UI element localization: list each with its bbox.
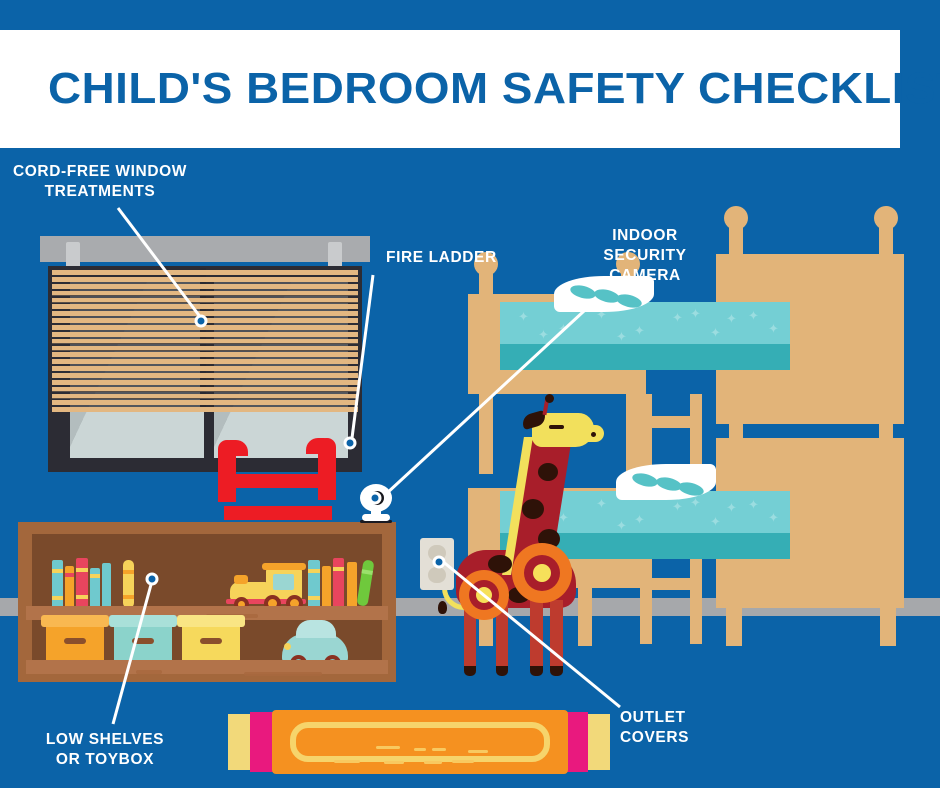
wall-outlet [420,538,454,590]
giraffe-pull-toy [446,395,606,680]
rug-inner-outline [290,722,550,762]
callout-label-low-shelves-or-toybox: LOW SHELVES OR TOYBOX [20,730,190,770]
bedpost [879,224,893,254]
camera-head [360,484,392,512]
infographic-poster: ✦✦✦✦✦✦✦✦✦✦✦✦ ✦✦✦✦✦✦✦✦✦✦✦✦ [0,0,940,788]
window-valance [40,236,370,262]
bookshelf [18,522,396,682]
fire-escape-ladder [218,432,344,528]
bedpost [729,224,743,254]
rug-field [272,710,568,774]
toy-wheel [512,543,572,603]
bunk-ladder-rung [640,416,702,428]
rug-fringe [586,714,610,770]
security-camera [358,484,394,522]
mattress-upper-base [500,344,790,370]
pillow-lower [616,464,716,500]
callout-label-cord-free-window-treatments: CORD-FREE WINDOW TREATMENTS [10,162,190,202]
bed-leg [626,394,640,474]
bed-foot [726,608,742,646]
window-blinds [52,268,358,412]
bunk-ladder-rung [640,578,702,590]
camera-lens-icon [370,491,384,505]
rug-fringe [228,714,252,770]
shelf-board [26,660,388,674]
outlet-socket [428,567,446,583]
bed-foot [880,608,896,646]
mattress-upper: ✦✦✦✦✦✦✦✦✦✦✦✦ [500,302,790,344]
outlet-socket [428,545,446,561]
callout-label-outlet-covers: OUTLET COVERS [620,708,740,748]
area-rug [228,710,610,774]
page-title: CHILD'S BEDROOM SAFETY CHECKLIST [48,64,940,114]
ladder-hook-left [218,440,236,502]
callout-label-indoor-security-camera: INDOOR SECURITY CAMERA [580,226,710,286]
ladder-hook-right [318,438,336,500]
toy-wheel [459,570,509,620]
ladder-rung [224,506,332,520]
bedpost [479,270,493,296]
ladder-rung [224,474,332,488]
callout-label-fire-ladder: FIRE LADDER [386,248,506,268]
header-banner: CHILD'S BEDROOM SAFETY CHECKLIST [0,30,900,148]
